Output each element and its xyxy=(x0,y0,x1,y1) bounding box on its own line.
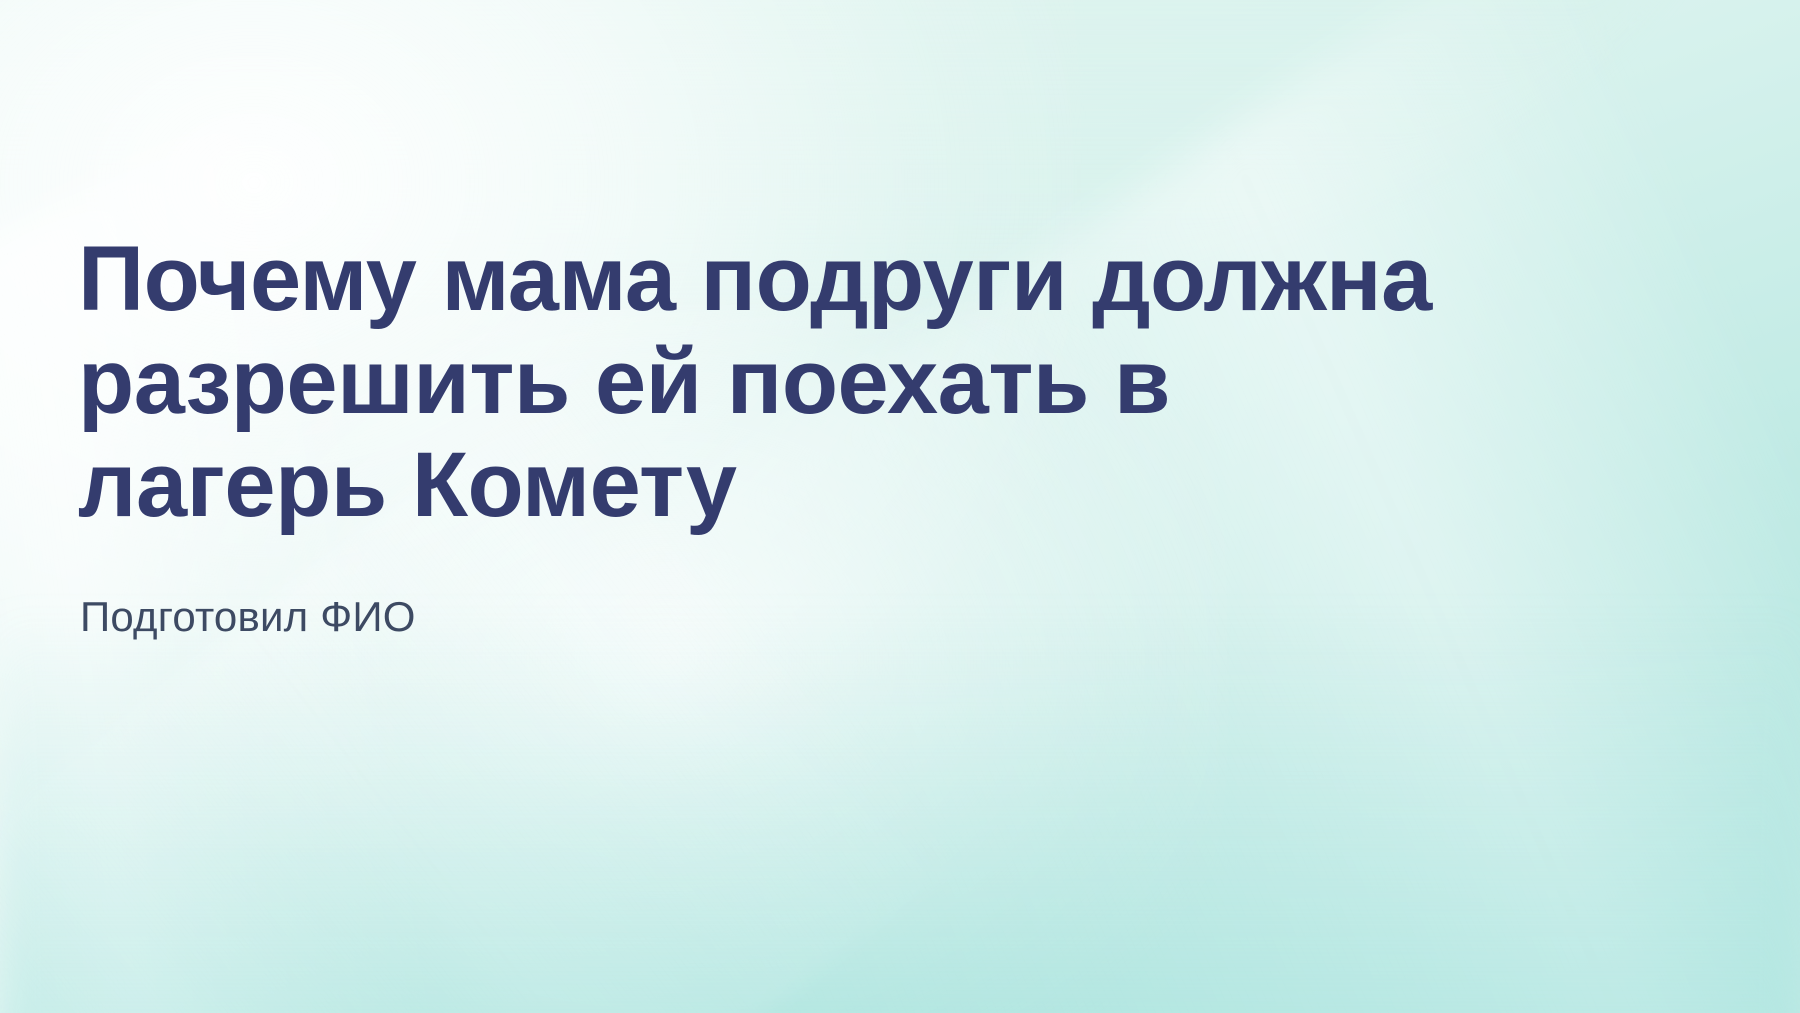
slide-title: Почему мама подруги должна разрешить ей … xyxy=(78,228,1498,537)
slide-subtitle-author: Подготовил ФИО xyxy=(80,592,416,642)
presentation-title-slide: Почему мама подруги должна разрешить ей … xyxy=(0,0,1800,1013)
slide-content: Почему мама подруги должна разрешить ей … xyxy=(78,0,1638,1013)
